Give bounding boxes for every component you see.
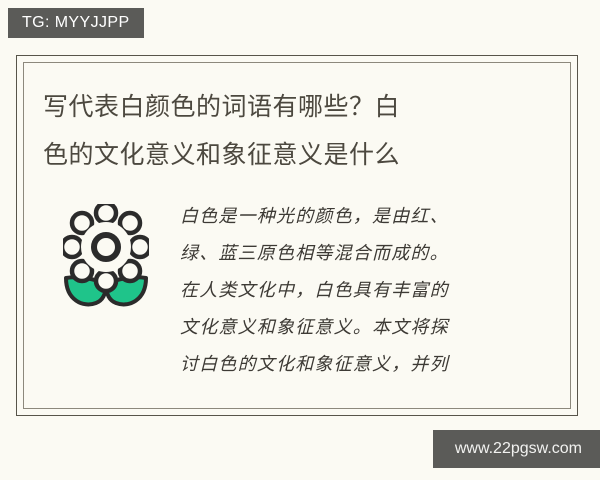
body-line: 绿、蓝三原色相等混合而成的。	[180, 235, 540, 272]
site-watermark: www.22pgsw.com	[433, 430, 600, 468]
body-line: 文化意义和象征意义。本文将探	[180, 309, 540, 346]
tg-channel-badge: TG: MYYJJPP	[8, 8, 144, 38]
body-line: 讨白色的文化和象征意义，并列	[180, 346, 540, 383]
body-line: 在人类文化中，白色具有丰富的	[180, 272, 540, 309]
flower-icon	[63, 204, 149, 312]
card-content: 写代表白颜色的词语有哪些？白 色的文化意义和象征意义是什么	[17, 56, 577, 415]
article-body: 白色是一种光的颜色，是由红、 绿、蓝三原色相等混合而成的。 在人类文化中，白色具…	[180, 198, 540, 383]
body-line: 白色是一种光的颜色，是由红、	[180, 198, 540, 235]
page-title: 写代表白颜色的词语有哪些？白 色的文化意义和象征意义是什么	[43, 83, 513, 179]
article-card: 写代表白颜色的词语有哪些？白 色的文化意义和象征意义是什么	[16, 55, 578, 416]
